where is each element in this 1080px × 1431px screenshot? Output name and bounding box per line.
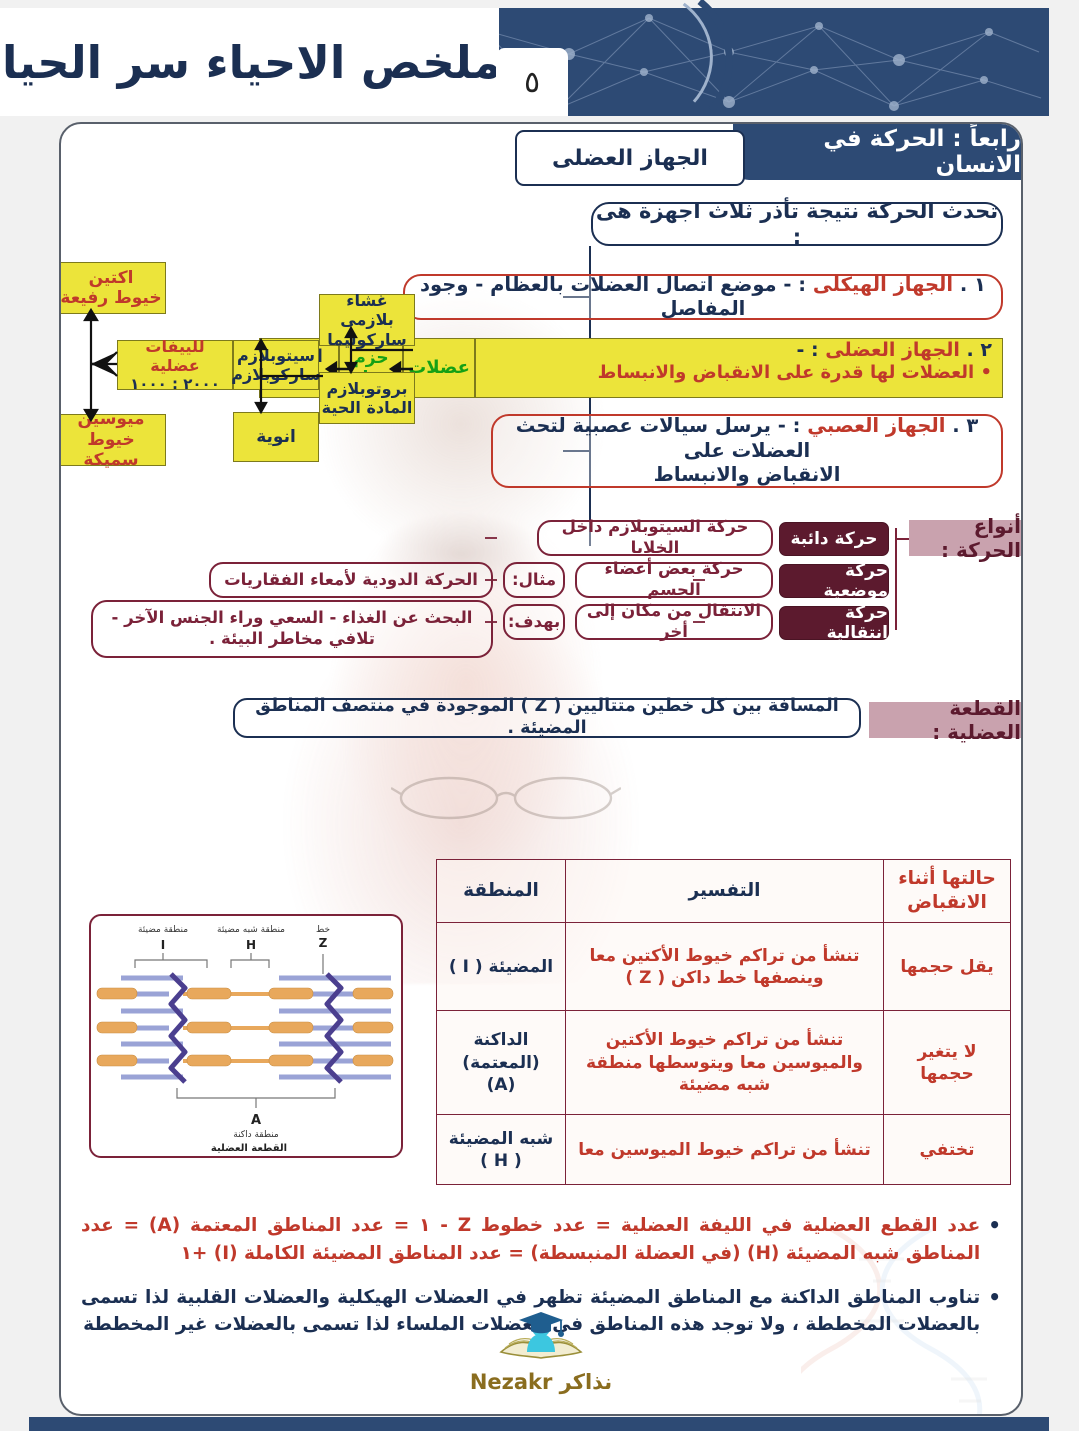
diagram-label-I-top: منطقة مضيئة <box>139 925 189 935</box>
table-cell-region-1: المضيئة ( I ) <box>438 923 567 1011</box>
table-cell-state-1: يقل حجمها <box>885 923 1012 1011</box>
system-nervous-line2: الانقباض والانبساط <box>655 463 842 487</box>
cell-structure-connectors-icon <box>62 304 422 474</box>
table-row: يقل حجمها تنشأ من تراكم خيوط الأكتين معا… <box>438 923 1012 1011</box>
movement-detail-3: البحث عن الغذاء - السعي وراء الجنس الآخر… <box>92 600 494 658</box>
system-muscular-index: ٢ . <box>968 339 993 361</box>
table-cell-region-3: شبه المضيئة ( H ) <box>438 1115 567 1185</box>
movement-type-3: حركة انتقالية <box>780 606 890 640</box>
table-cell-explanation-2: تنشأ من تراكم خيوط الأكتين والميوسين معا… <box>567 1011 885 1115</box>
movement-connector-h0 <box>896 538 910 540</box>
system-skeletal-name: الجهاز الهيكلى <box>814 273 954 296</box>
sheet-inner: رابعاً : الحركة في الانسان الجهاز العضلى… <box>62 124 1022 1414</box>
glasses-watermark-icon <box>392 772 622 824</box>
section-tab-human-movement[interactable]: رابعاً : الحركة في الانسان <box>734 124 1022 180</box>
diagram-label-Z: Z <box>320 936 329 950</box>
diagram-label-A-bottom: منطقة داكنة <box>234 1130 280 1140</box>
diagram-label-I: I <box>162 938 166 952</box>
system-nervous: ٣ . الجهاز العصبي : - يرسل سيالات عصبية … <box>492 414 1004 488</box>
movement-connectors-icon <box>486 520 786 646</box>
topic-tab-muscular-system[interactable]: الجهاز العضلى <box>516 130 746 186</box>
system-skeletal-text: ١ . الجهاز الهيكلى : - موضع اتصال العضلا… <box>414 273 994 322</box>
document-title: ملخص الاحياء سر الحياة <box>0 40 502 85</box>
system-muscular-title-row: ٢ . الجهاز العضلى : - <box>477 339 993 362</box>
system-nervous-name: الجهاز العصبي <box>808 414 946 437</box>
system-muscular: ٢ . الجهاز العضلى : - • العضلات لها قدرة… <box>476 338 1004 398</box>
system-muscular-name: الجهاز العضلى <box>826 339 961 361</box>
table-row: تختفي تنشأ من تراكم خيوط الميوسين معا شب… <box>438 1115 1012 1185</box>
diagram-label-A: A <box>252 1113 262 1128</box>
system-skeletal-body: : - موضع اتصال العضلات بالعظام - وجود ال… <box>421 273 807 320</box>
footer-logo: نذاكر Nezakr <box>62 1306 1022 1394</box>
note-text-1: عدد القطع العضلية في الليفة العضلية = عد… <box>82 1212 981 1268</box>
movement-types-label: أنواع الحركة : <box>910 520 1022 556</box>
graduate-book-logo-icon <box>496 1306 588 1368</box>
table-cell-state-2: لا يتغير حجمها <box>885 1011 1012 1115</box>
system-nervous-index: ٣ . <box>953 414 979 437</box>
system-nervous-body: : - يرسل سيالات عصبية لتحث العضلات على <box>517 414 812 461</box>
list-item: • عدد القطع العضلية في الليفة العضلية = … <box>82 1212 1002 1268</box>
page-number-badge: ٥ <box>497 48 569 116</box>
table-cell-explanation-3: تنشأ من تراكم خيوط الميوسين معا <box>567 1115 885 1185</box>
system-muscular-body: : - <box>798 339 820 361</box>
table-header-row: حالتها أثناء الانقباض التفسير المنطقة <box>438 860 1012 923</box>
diagram-label-Z-top: خط <box>317 925 331 935</box>
diagram-label-H-top: منطقة شبه مضيئة <box>218 925 286 935</box>
sarcomere-label: القطعة العضلية : <box>870 702 1022 738</box>
system-skeletal: ١ . الجهاز الهيكلى : - موضع اتصال العضلا… <box>404 274 1004 320</box>
cell-box-actin-line1: اكتين <box>90 268 135 288</box>
sarcomere-definition: المسافة بين كل خطين متتاليين ( Z ) الموج… <box>234 698 862 738</box>
sarcomere-diagram: منطقة مضيئة I منطقة شبه مضيئة H خط Z <box>90 914 404 1158</box>
table-row: لا يتغير حجمها تنشأ من تراكم خيوط الأكتي… <box>438 1011 1012 1115</box>
page-root: ملخص الاحياء سر الحياة ٥ <box>0 0 1080 1431</box>
system-nervous-line1: ٣ . الجهاز العصبي : - يرسل سيالات عصبية … <box>504 414 992 463</box>
diagram-label-H: H <box>247 938 257 952</box>
system-skeletal-index: ١ . <box>961 273 987 296</box>
table-header-region: المنطقة <box>438 860 567 923</box>
table-header-explanation: التفسير <box>567 860 885 923</box>
table-cell-state-3: تختفي <box>885 1115 1012 1185</box>
system-muscular-bullet: • العضلات لها قدرة على الانقباض والانبسا… <box>477 362 993 384</box>
movement-type-2: حركة موضعية <box>780 564 890 598</box>
sarcomere-regions-table: حالتها أثناء الانقباض التفسير المنطقة يق… <box>437 859 1012 1185</box>
document-title-wrapper: ملخص الاحياء سر الحياة <box>50 8 520 116</box>
movement-connector-vline <box>896 528 898 630</box>
bullet-dot-icon: • <box>989 1212 1002 1268</box>
table-cell-explanation-1: تنشأ من تراكم خيوط الأكتين معا وينصفها خ… <box>567 923 885 1011</box>
sarcomere-diagram-svg: منطقة مضيئة I منطقة شبه مضيئة H خط Z <box>92 916 402 1156</box>
movement-type-1: حركة دائبة <box>780 522 890 556</box>
content-sheet: رابعاً : الحركة في الانسان الجهاز العضلى… <box>60 122 1024 1416</box>
footer-logo-name: نذاكر Nezakr <box>471 1370 613 1394</box>
footer-bar <box>30 1417 1050 1431</box>
movement-detail-2: الحركة الدودية لأمعاء الفقاريات <box>210 562 494 598</box>
table-cell-region-2: الداكنة (المعتمة) (A) <box>438 1011 567 1115</box>
diagram-caption: القطعة العضلية <box>212 1143 288 1154</box>
intro-statement: تحدث الحركة نتيجة تأذر ثلاث اجهزة هى : <box>592 202 1004 246</box>
table-header-state: حالتها أثناء الانقباض <box>885 860 1012 923</box>
